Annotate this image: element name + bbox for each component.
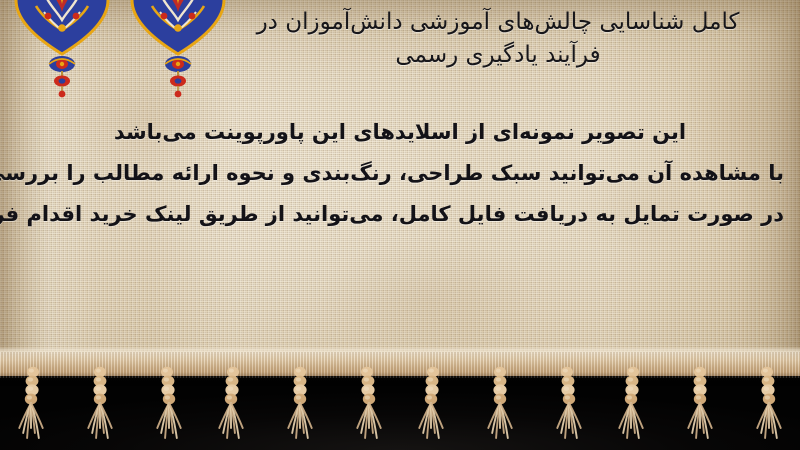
- slide-title-line: فرآیند یادگیری رسمی: [218, 39, 778, 72]
- slide-canvas: کامل شناسایی چالش‌های آموزشی دانش‌آموزان…: [0, 0, 800, 450]
- fringe-tassel: [752, 366, 782, 444]
- slide-title-line: کامل شناسایی چالش‌های آموزشی دانش‌آموزان…: [218, 6, 778, 39]
- fringe-tassel: [485, 366, 515, 444]
- fringe-shadow: [0, 372, 800, 386]
- fringe-tassel: [85, 366, 115, 444]
- fringe-tassel: [552, 366, 582, 444]
- body-text-line: در صورت تمایل به دریافت فایل کامل، می‌تو…: [16, 194, 784, 235]
- body-text-line: این تصویر نمونه‌ای از اسلایدهای این پاور…: [16, 112, 784, 153]
- fringe-tassel: [352, 366, 382, 444]
- fringe-tassel: [285, 366, 315, 444]
- fringe-tassel: [685, 366, 715, 444]
- fringe-tassel: [218, 366, 248, 444]
- fringe-tassel: [418, 366, 448, 444]
- fringe-tassel: [18, 366, 48, 444]
- fringe-tassel: [618, 366, 648, 444]
- body-text-line: با مشاهده آن می‌توانید سبک طراحی، رنگ‌بن…: [16, 153, 784, 194]
- fringe-tassel: [152, 366, 182, 444]
- slide-title: کامل شناسایی چالش‌های آموزشی دانش‌آموزان…: [218, 6, 778, 71]
- carpet-knotted-fringe-icon: [0, 338, 800, 450]
- slide-body-text: این تصویر نمونه‌ای از اسلایدهای این پاور…: [16, 112, 784, 235]
